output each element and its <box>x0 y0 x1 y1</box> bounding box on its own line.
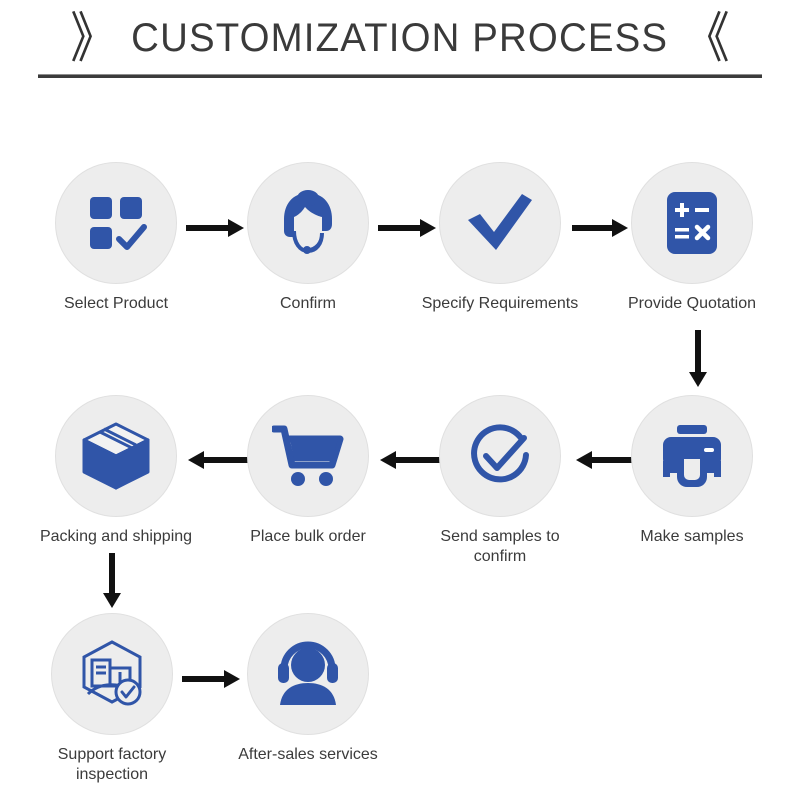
step-icon-circle <box>631 162 753 284</box>
step-icon-circle <box>247 162 369 284</box>
headset-person-icon <box>272 641 344 707</box>
shopping-cart-icon <box>272 423 344 489</box>
step-icon-circle <box>439 395 561 517</box>
page-title: CUSTOMIZATION PROCESS <box>132 16 669 61</box>
arrow-down-icon <box>683 330 713 388</box>
step-icon-circle <box>439 162 561 284</box>
circle-check-icon <box>464 420 536 492</box>
step-icon-circle <box>247 395 369 517</box>
title-row: 》 CUSTOMIZATION PROCESS 《 <box>0 8 800 68</box>
factory-inspection-icon <box>76 638 148 710</box>
step-specify-requirements[interactable]: Specify Requirements <box>420 162 580 314</box>
package-box-icon <box>78 420 154 492</box>
step-label: Specify Requirements <box>420 294 580 314</box>
grid-check-icon <box>84 191 148 255</box>
step-label: Make samples <box>612 527 772 547</box>
step-label: Provide Quotation <box>612 294 772 314</box>
step-label: Support factory inspection <box>32 745 192 785</box>
step-label: Packing and shipping <box>36 527 196 547</box>
step-confirm[interactable]: Confirm <box>228 162 388 314</box>
step-icon-circle <box>631 395 753 517</box>
page-header: 》 CUSTOMIZATION PROCESS 《 <box>0 0 800 90</box>
step-provide-quotation[interactable]: Provide Quotation <box>612 162 772 314</box>
arrow-down-icon <box>97 553 127 609</box>
step-select-product[interactable]: Select Product <box>36 162 196 314</box>
step-send-samples-to-confirm[interactable]: Send samples to confirm <box>420 395 580 567</box>
step-after-sales-services[interactable]: After-sales services <box>228 613 388 765</box>
step-icon-circle <box>247 613 369 735</box>
step-label: Place bulk order <box>228 527 388 547</box>
step-packing-and-shipping[interactable]: Packing and shipping <box>36 395 196 547</box>
step-label: Select Product <box>36 294 196 314</box>
step-place-bulk-order[interactable]: Place bulk order <box>228 395 388 547</box>
step-label: After-sales services <box>228 745 388 765</box>
double-chevron-left-icon: 《 <box>684 11 730 65</box>
double-chevron-right-icon: 》 <box>70 11 116 65</box>
support-agent-icon <box>272 187 344 259</box>
calculator-icon <box>661 190 723 256</box>
step-icon-circle <box>55 395 177 517</box>
title-divider <box>38 74 762 78</box>
checkmark-icon <box>464 190 536 256</box>
step-label: Confirm <box>228 294 388 314</box>
step-make-samples[interactable]: Make samples <box>612 395 772 547</box>
step-icon-circle <box>51 613 173 735</box>
printer-icon <box>657 423 727 489</box>
step-support-factory-inspection[interactable]: Support factory inspection <box>32 613 192 785</box>
step-icon-circle <box>55 162 177 284</box>
step-label: Send samples to confirm <box>420 527 580 567</box>
